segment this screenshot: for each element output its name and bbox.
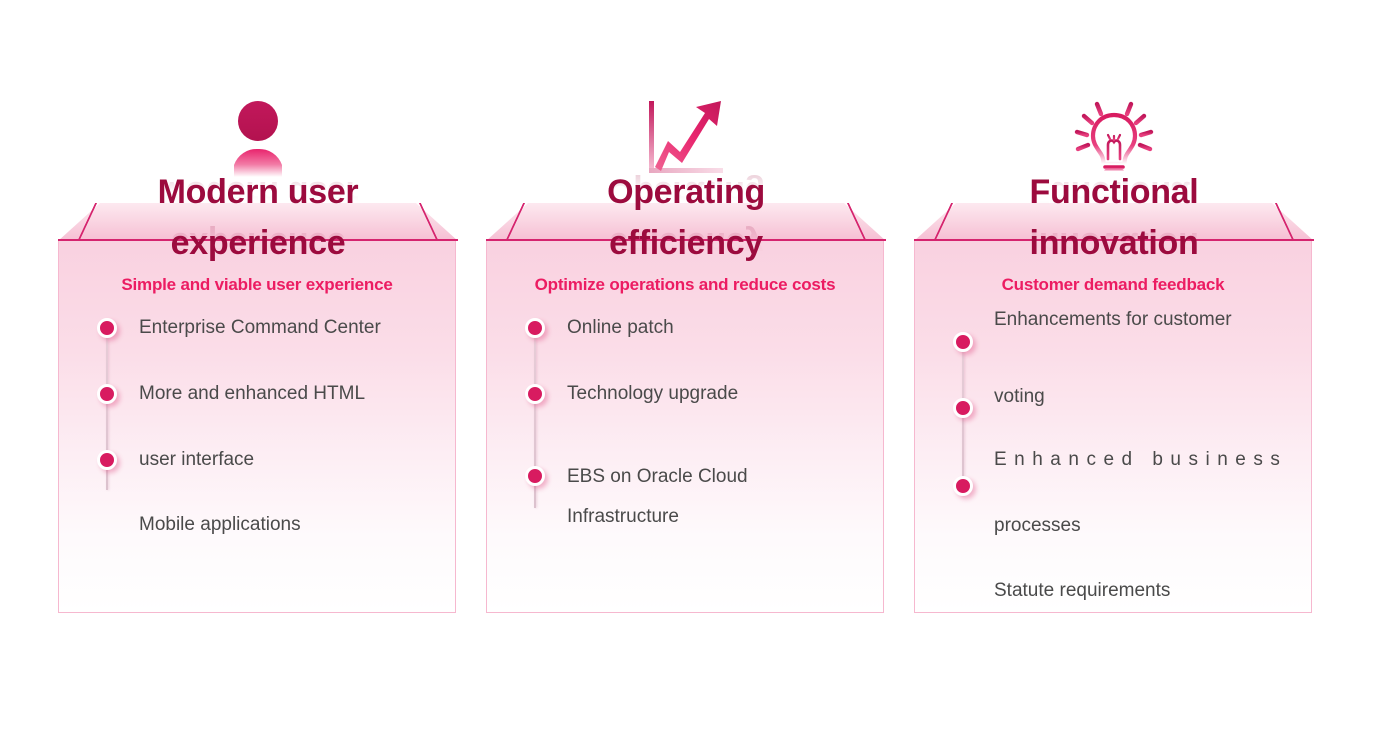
bullet-dot (525, 384, 545, 404)
growth-chart-icon (486, 95, 886, 177)
list-item: Enhanced business (994, 448, 1287, 472)
card-title-text-1: Modern user (158, 173, 359, 211)
card-functional-innovation[interactable]: Functional Functional innovation innovat… (914, 95, 1314, 620)
card-title-text-2: efficiency (609, 224, 763, 262)
card-subtitle: Optimize operations and reduce costs (487, 275, 883, 295)
card-title: Functional Functional innovation innovat… (914, 167, 1314, 269)
card-title: Operating Operating efficiency efficienc… (486, 167, 886, 269)
list-item: Technology upgrade (567, 382, 738, 406)
card-title-line-2: experience experience (58, 218, 458, 269)
card-operating-efficiency[interactable]: Operating Operating efficiency efficienc… (486, 95, 886, 620)
card-title-line-2: innovation innovation (914, 218, 1314, 269)
card-subtitle: Simple and viable user experience (59, 275, 455, 295)
bullet-dot (97, 450, 117, 470)
list-item: voting (994, 385, 1045, 409)
list-item: user interface (139, 448, 254, 472)
card-modern-user-experience[interactable]: Modern user Modern user experience exper… (58, 95, 458, 620)
bullet-dot (525, 318, 545, 338)
card-body: Customer demand feedback Enhancements fo… (914, 240, 1312, 613)
card-title-text-2: innovation (1030, 224, 1199, 262)
card-title-text-1: Functional (1030, 173, 1199, 211)
bullet-dot (525, 466, 545, 486)
infographic-stage: Modern user Modern user experience exper… (0, 0, 1380, 730)
bullet-dot (953, 332, 973, 352)
bullet-dot (953, 476, 973, 496)
lightbulb-icon (914, 95, 1314, 177)
list-item: EBS on Oracle Cloud (567, 465, 748, 489)
card-title-text-1: Operating (607, 173, 765, 211)
bullet-dot (97, 318, 117, 338)
card-body: Optimize operations and reduce costs Onl… (486, 240, 884, 613)
list-item: Mobile applications (139, 513, 301, 537)
list-item: Enhancements for customer (994, 308, 1232, 332)
list-item: Online patch (567, 316, 674, 340)
card-title-line-2: efficiency efficiency (486, 218, 886, 269)
card-body: Simple and viable user experience Enterp… (58, 240, 456, 613)
list-item: Infrastructure (567, 505, 679, 529)
list-item: processes (994, 514, 1081, 538)
card-title-line-1: Functional Functional (914, 167, 1314, 218)
list-item: Enterprise Command Center (139, 316, 381, 340)
card-title-line-1: Operating Operating (486, 167, 886, 218)
bullet-dot (953, 398, 973, 418)
card-subtitle: Customer demand feedback (915, 275, 1311, 295)
card-title-line-1: Modern user Modern user (58, 167, 458, 218)
card-title-text-2: experience (171, 224, 346, 262)
list-item: Statute requirements (994, 579, 1170, 603)
person-icon (58, 95, 458, 177)
list-item: More and enhanced HTML (139, 382, 365, 406)
bullet-dot (97, 384, 117, 404)
card-title: Modern user Modern user experience exper… (58, 167, 458, 269)
